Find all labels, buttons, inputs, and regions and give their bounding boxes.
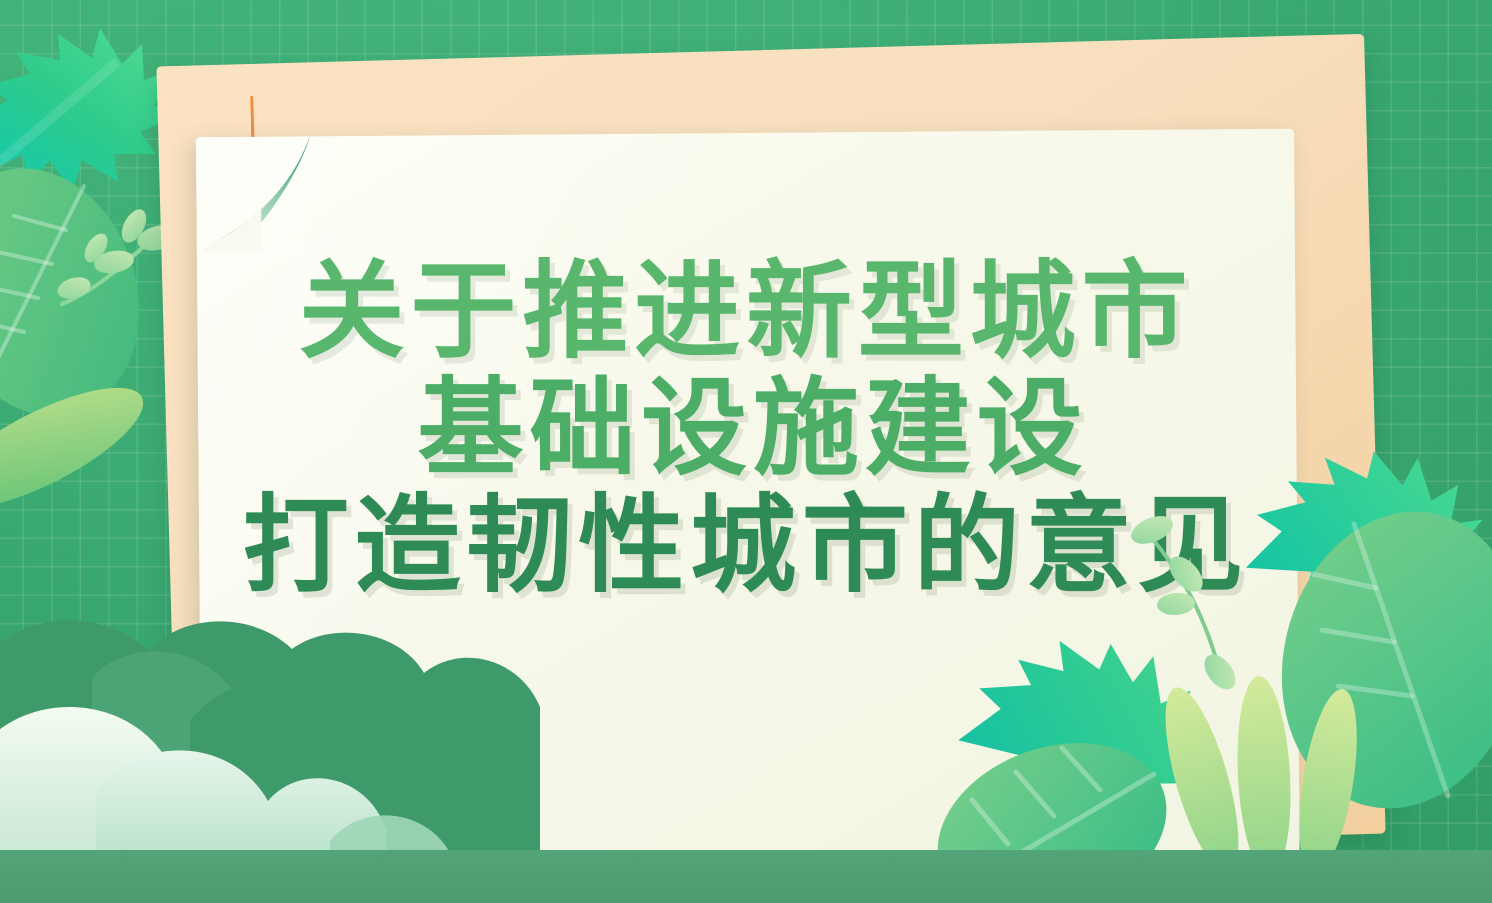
footer-band [0,850,1492,903]
poster-canvas: 关于推进新型城市 基础设施建设 打造韧性城市的意见 [0,0,1492,903]
leaf-sprig-icon [1127,511,1242,696]
lime-fan-leaves [1151,675,1368,880]
blade-leaf-icon [0,352,160,542]
foliage-cluster [972,430,1492,903]
